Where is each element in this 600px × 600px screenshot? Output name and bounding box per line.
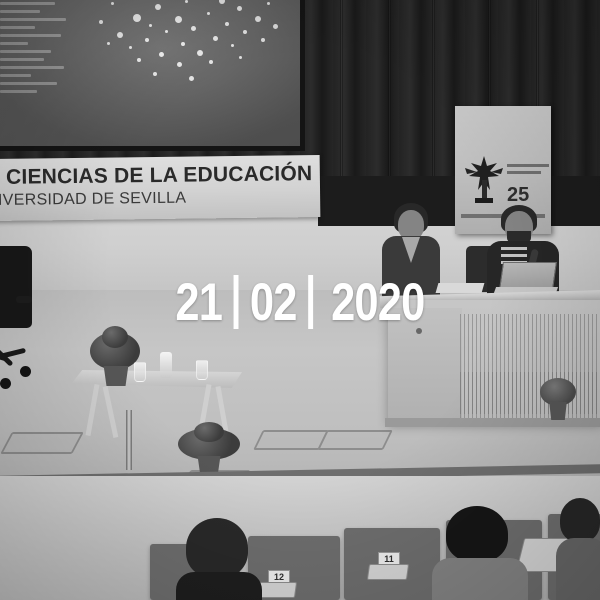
potted-plant-desk (538, 378, 582, 426)
banner-anniversary-number: 25 (507, 184, 529, 207)
papers-on-desk (436, 283, 485, 293)
floor-hatch (317, 430, 393, 450)
photo-canvas: E CIENCIAS DE LA EDUCACIÓN NIVERSIDAD DE… (0, 0, 600, 600)
drinking-glass (196, 360, 208, 380)
drinking-glass (134, 362, 146, 382)
water-bottle (160, 352, 172, 378)
crest-icon (463, 150, 505, 208)
office-chair (0, 246, 50, 386)
wall-sign: E CIENCIAS DE LA EDUCACIÓN NIVERSIDAD DE… (0, 155, 320, 221)
laptop (495, 262, 557, 294)
audience-member (176, 518, 262, 600)
audience-member (556, 498, 600, 600)
wall-sign-line-1: E CIENCIAS DE LA EDUCACIÓN (0, 162, 312, 190)
seat-tablet-arm (257, 582, 297, 598)
banner-text-lines (507, 164, 549, 178)
projection-screen (0, 0, 300, 146)
audience-member (432, 506, 528, 600)
microphone-stand (126, 410, 132, 470)
speaker-left (382, 203, 440, 303)
wall-sign-line-2: NIVERSIDAD DE SEVILLA (0, 190, 186, 210)
seat-tablet-arm (367, 564, 409, 580)
potted-plant-floor (178, 428, 248, 476)
